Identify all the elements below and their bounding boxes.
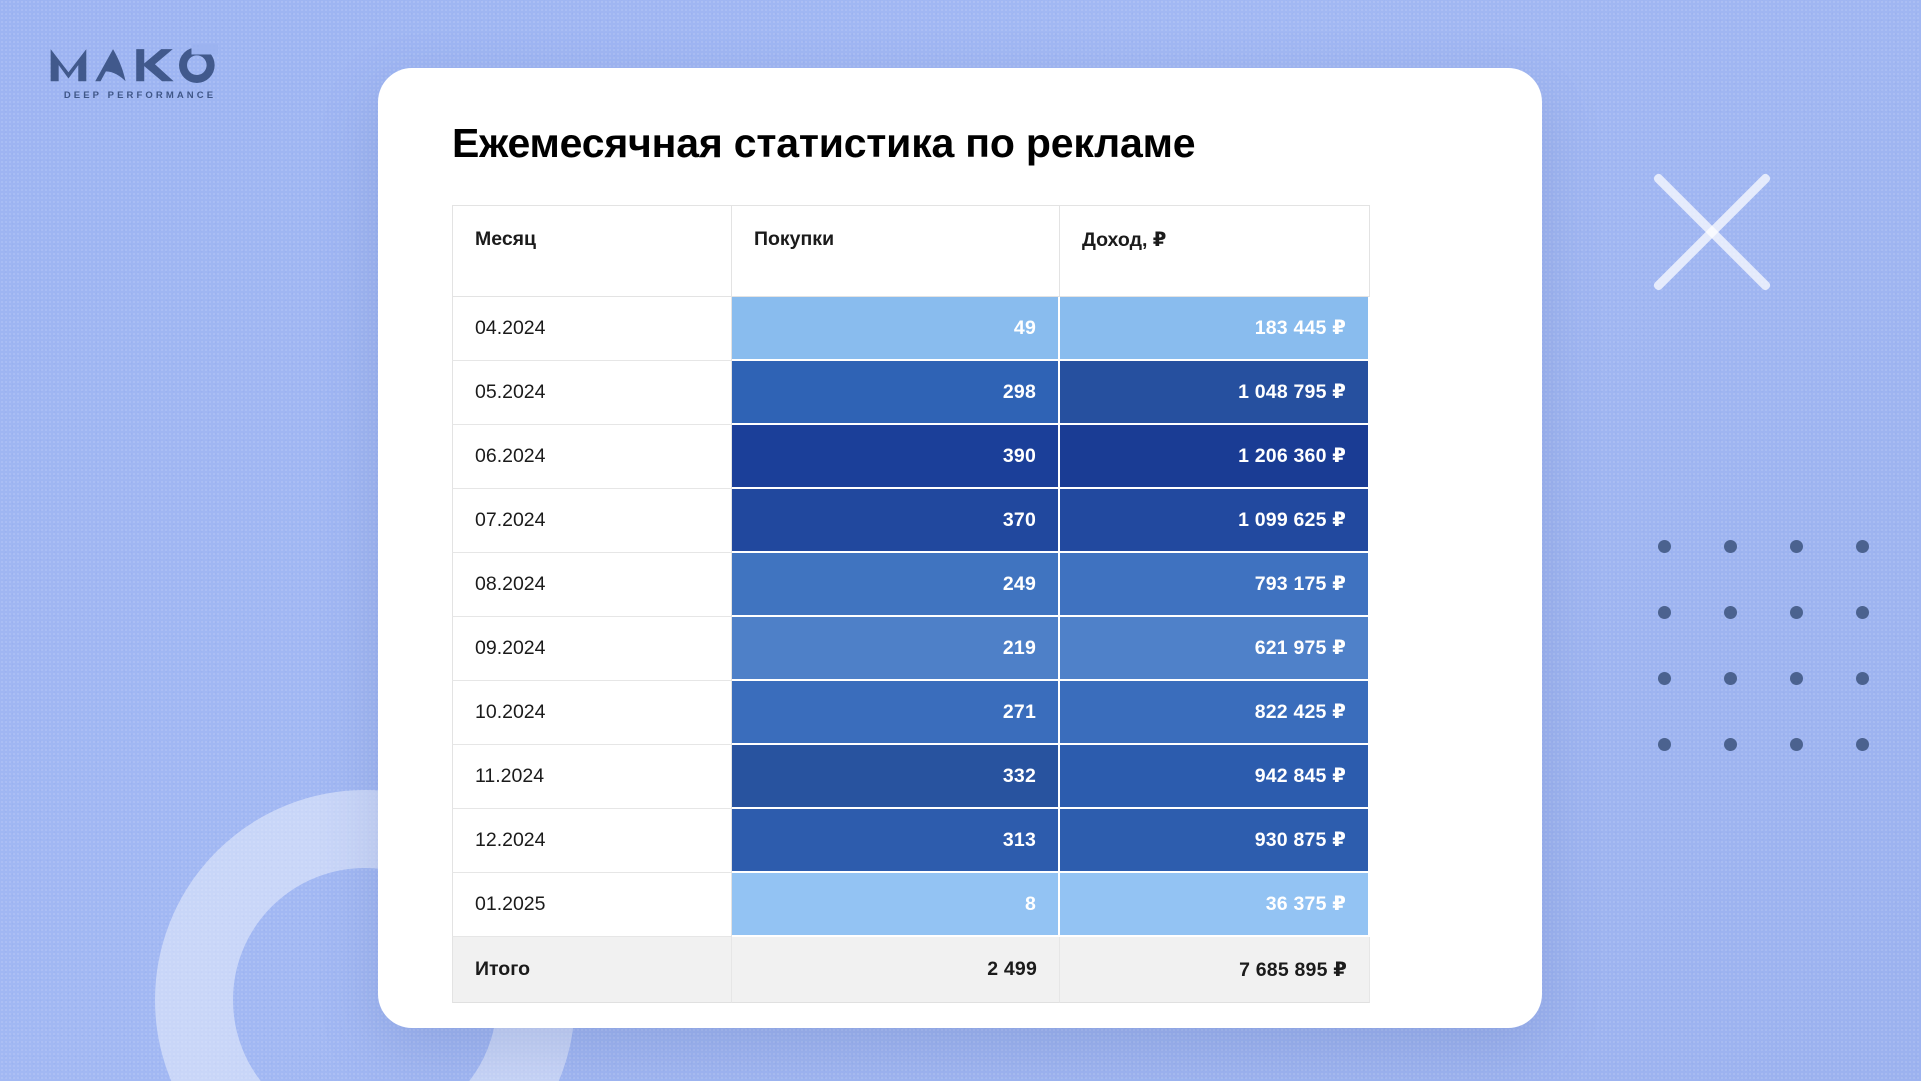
cell-revenue: 36 375 ₽ — [1060, 873, 1370, 937]
cell-total-label: Итого — [452, 937, 732, 1003]
table-header-row: Месяц Покупки Доход, ₽ — [452, 205, 1370, 297]
brand-tagline: DEEP PERFORMANCE — [48, 90, 228, 101]
grid-dot — [1856, 540, 1869, 553]
grid-dot — [1724, 672, 1737, 685]
stats-table-wrapper: Месяц Покупки Доход, ₽ 04.202449183 445 … — [452, 205, 1370, 1003]
cell-revenue: 942 845 ₽ — [1060, 745, 1370, 809]
cell-revenue: 621 975 ₽ — [1060, 617, 1370, 681]
cell-total-revenue: 7 685 895 ₽ — [1060, 937, 1370, 1003]
grid-dot — [1790, 540, 1803, 553]
cell-purchases: 219 — [732, 617, 1060, 681]
cell-month: 04.2024 — [452, 297, 732, 361]
cell-month: 08.2024 — [452, 553, 732, 617]
cell-revenue: 1 048 795 ₽ — [1060, 361, 1370, 425]
grid-dot — [1658, 540, 1671, 553]
cell-revenue: 1 099 625 ₽ — [1060, 489, 1370, 553]
cell-purchases: 49 — [732, 297, 1060, 361]
table-head: Месяц Покупки Доход, ₽ — [452, 205, 1370, 297]
table-row: 09.2024219621 975 ₽ — [452, 617, 1370, 681]
table-row: 05.20242981 048 795 ₽ — [452, 361, 1370, 425]
column-header-revenue: Доход, ₽ — [1060, 205, 1370, 297]
table-row: 11.2024332942 845 ₽ — [452, 745, 1370, 809]
grid-dot — [1724, 738, 1737, 751]
cell-purchases: 249 — [732, 553, 1060, 617]
cross-decoration — [1632, 152, 1792, 312]
cell-month: 07.2024 — [452, 489, 732, 553]
cell-revenue: 822 425 ₽ — [1060, 681, 1370, 745]
grid-dot — [1658, 606, 1671, 619]
table-row: 06.20243901 206 360 ₽ — [452, 425, 1370, 489]
grid-dot — [1856, 738, 1869, 751]
cell-purchases: 332 — [732, 745, 1060, 809]
dot-grid-decoration — [1658, 540, 1921, 804]
cell-revenue: 183 445 ₽ — [1060, 297, 1370, 361]
cell-revenue: 930 875 ₽ — [1060, 809, 1370, 873]
grid-dot — [1856, 606, 1869, 619]
table-body: 04.202449183 445 ₽05.20242981 048 795 ₽0… — [452, 297, 1370, 1003]
column-header-purchases: Покупки — [732, 205, 1060, 297]
column-header-month: Месяц — [452, 205, 732, 297]
cell-month: 06.2024 — [452, 425, 732, 489]
mako-wordmark-icon — [48, 42, 228, 83]
table-row: 04.202449183 445 ₽ — [452, 297, 1370, 361]
grid-dot — [1724, 606, 1737, 619]
grid-dot — [1658, 672, 1671, 685]
table-row: 01.2025836 375 ₽ — [452, 873, 1370, 937]
grid-dot — [1724, 540, 1737, 553]
cell-purchases: 271 — [732, 681, 1060, 745]
cell-revenue: 1 206 360 ₽ — [1060, 425, 1370, 489]
cell-month: 01.2025 — [452, 873, 732, 937]
cell-month: 11.2024 — [452, 745, 732, 809]
monthly-ads-statistics-table: Месяц Покупки Доход, ₽ 04.202449183 445 … — [452, 205, 1370, 1003]
cell-purchases: 390 — [732, 425, 1060, 489]
cell-month: 12.2024 — [452, 809, 732, 873]
cell-purchases: 298 — [732, 361, 1060, 425]
cell-month: 05.2024 — [452, 361, 732, 425]
brand-logo: DEEP PERFORMANCE — [48, 42, 228, 101]
cell-revenue: 793 175 ₽ — [1060, 553, 1370, 617]
table-row: 10.2024271822 425 ₽ — [452, 681, 1370, 745]
stats-card: Ежемесячная статистика по рекламе Месяц … — [378, 68, 1542, 1028]
cell-purchases: 370 — [732, 489, 1060, 553]
grid-dot — [1790, 738, 1803, 751]
cell-total-purchases: 2 499 — [732, 937, 1060, 1003]
page-title: Ежемесячная статистика по рекламе — [452, 120, 1542, 167]
cell-purchases: 313 — [732, 809, 1060, 873]
grid-dot — [1790, 672, 1803, 685]
cell-month: 09.2024 — [452, 617, 732, 681]
cell-purchases: 8 — [732, 873, 1060, 937]
grid-dot — [1658, 738, 1671, 751]
table-row: 07.20243701 099 625 ₽ — [452, 489, 1370, 553]
grid-dot — [1790, 606, 1803, 619]
cell-month: 10.2024 — [452, 681, 732, 745]
table-row: 08.2024249793 175 ₽ — [452, 553, 1370, 617]
grid-dot — [1856, 672, 1869, 685]
table-row: 12.2024313930 875 ₽ — [452, 809, 1370, 873]
table-total-row: Итого2 4997 685 895 ₽ — [452, 937, 1370, 1003]
